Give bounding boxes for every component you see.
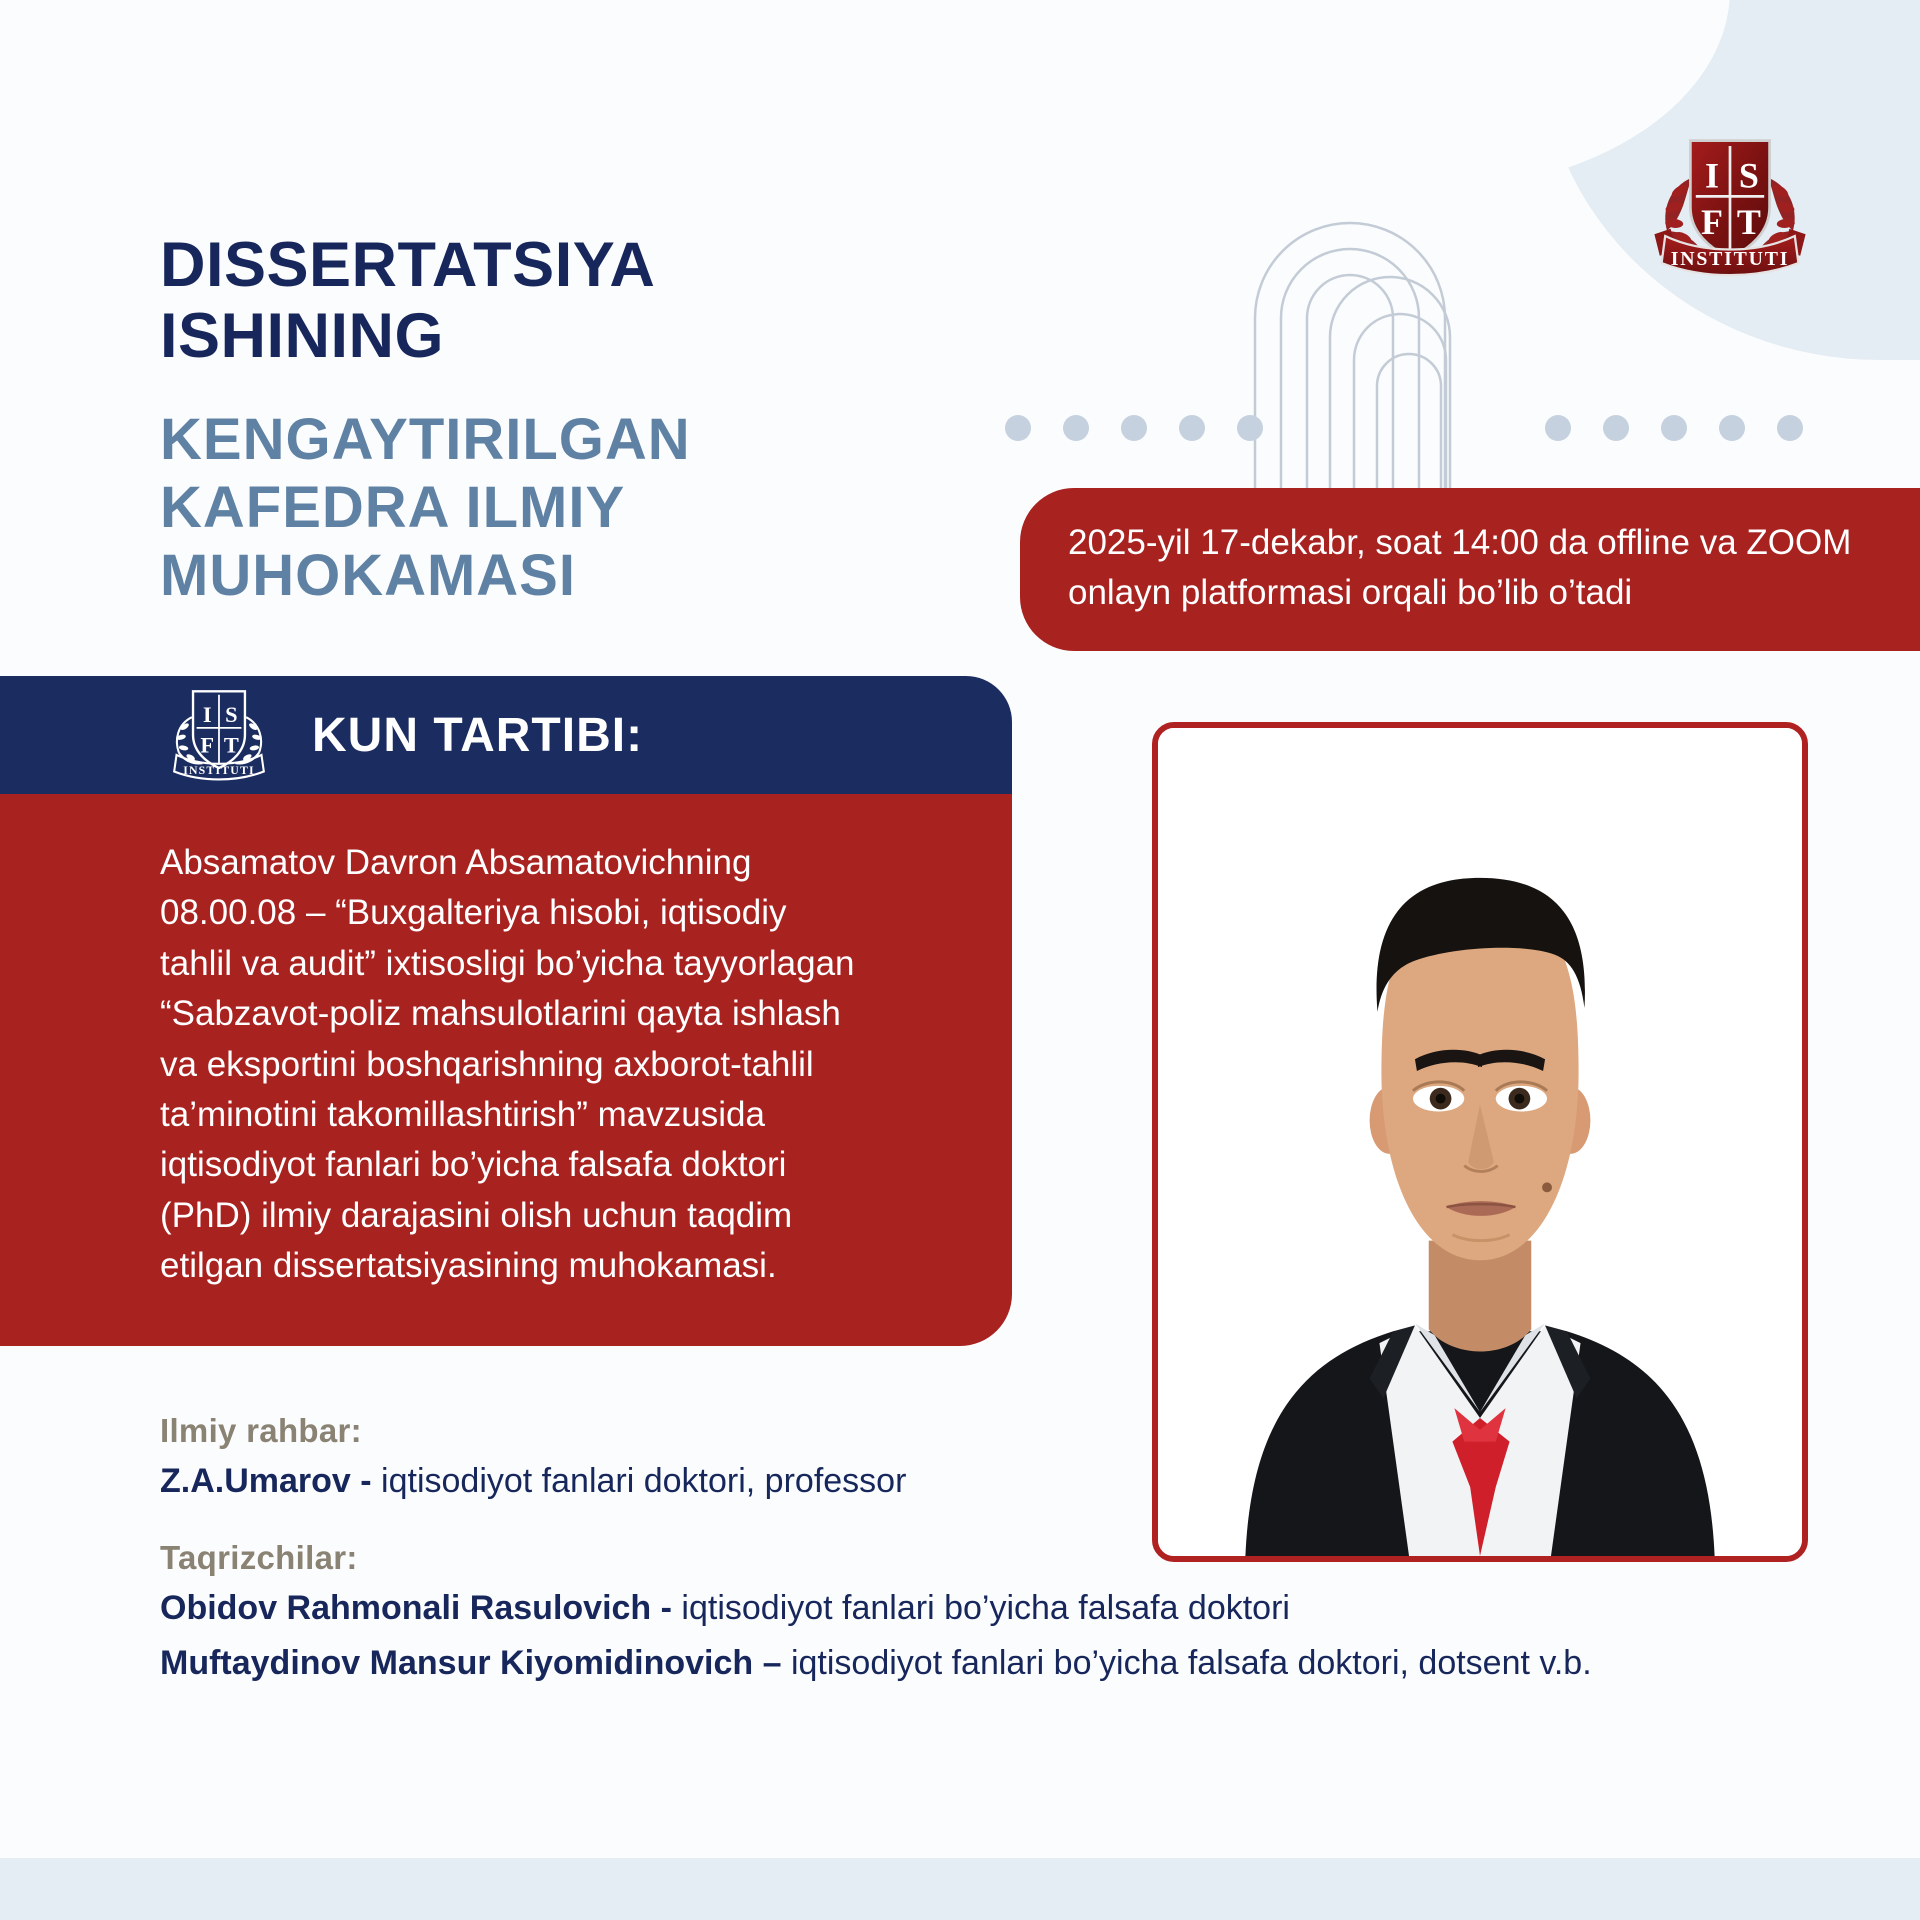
logo-ribbon-text: INSTITUTI (1671, 248, 1789, 270)
svg-text:F: F (200, 733, 214, 758)
dot (1237, 415, 1263, 441)
dot (1777, 415, 1803, 441)
agenda-title: KUN TARTIBI: (312, 708, 643, 763)
dot (1661, 415, 1687, 441)
svg-text:S: S (225, 702, 237, 727)
svg-text:F: F (1701, 202, 1723, 242)
reviewer-detail: iqtisodiyot fanlari bo’yicha falsafa dok… (791, 1644, 1592, 1682)
dot (1603, 415, 1629, 441)
dot (1063, 415, 1089, 441)
reviewer-name: Obidov Rahmonali Rasulovich - (160, 1589, 681, 1627)
dot (1005, 415, 1031, 441)
bottom-band (0, 1858, 1920, 1920)
svg-text:INSTITUTI: INSTITUTI (183, 763, 255, 777)
reviewer-line: Obidov Rahmonali Rasulovich - iqtisodiyo… (160, 1585, 1800, 1632)
svg-text:T: T (224, 733, 239, 758)
reviewer-detail: iqtisodiyot fanlari bo’yicha falsafa dok… (681, 1589, 1290, 1627)
agenda-header-bar: I S F T INSTITUTI KUN T (0, 676, 1012, 794)
dot (1719, 415, 1745, 441)
advisor-name: Z.A.Umarov - (160, 1462, 381, 1500)
speaker-portrait (1152, 722, 1808, 1562)
isft-logo: I S F T INSTITUTI (1640, 128, 1820, 283)
dot (1121, 415, 1147, 441)
svg-text:I: I (203, 702, 212, 727)
page-title: DISSERTATSIYA ISHINING KENGAYTIRILGAN KA… (160, 230, 940, 610)
dot (1545, 415, 1571, 441)
advisor-detail: iqtisodiyot fanlari doktori, professor (381, 1462, 906, 1500)
reviewer-name: Muftaydinov Mansur Kiyomidinovich – (160, 1644, 791, 1682)
reviewer-line: Muftaydinov Mansur Kiyomidinovich – iqti… (160, 1640, 1800, 1687)
svg-text:T: T (1737, 202, 1761, 242)
page-title-secondary: KENGAYTIRILGAN KAFEDRA ILMIY MUHOKAMASI (160, 406, 940, 610)
page-title-primary: DISSERTATSIYA ISHINING (160, 230, 940, 372)
dots-row-right (1545, 415, 1803, 441)
event-date-banner: 2025-yil 17-dekabr, soat 14:00 da offlin… (1020, 488, 1920, 651)
agenda-body-text: Absamatov Davron Absamatovichning 08.00.… (0, 794, 1012, 1346)
svg-text:S: S (1739, 155, 1759, 195)
dots-row-left (1005, 415, 1263, 441)
isft-logo-small: I S F T INSTITUTI (160, 683, 278, 787)
dot (1179, 415, 1205, 441)
svg-text:I: I (1705, 155, 1719, 195)
